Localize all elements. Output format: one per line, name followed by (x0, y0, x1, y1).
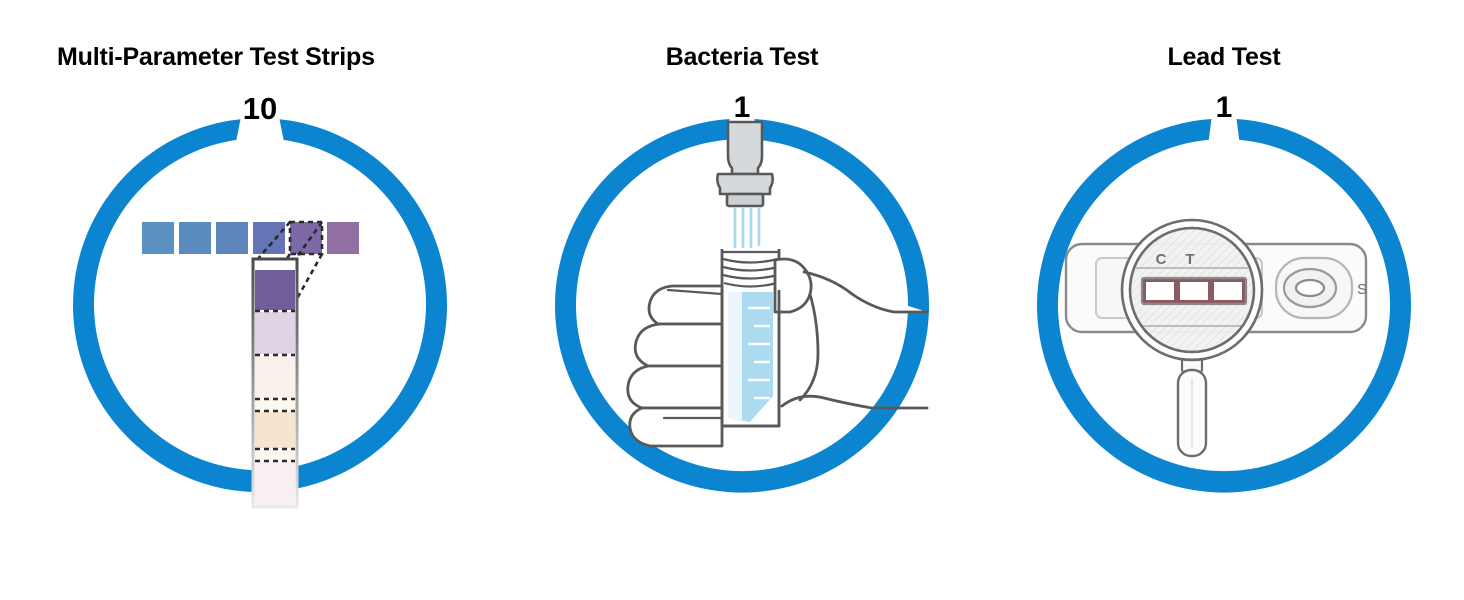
card-title: Bacteria Test (502, 44, 982, 72)
test-strip-illustration (50, 96, 470, 516)
card-lead-test[interactable]: Lead Test 1 (984, 0, 1464, 600)
test-strip (253, 258, 297, 508)
hand-vial-faucet-illustration (532, 96, 952, 516)
magnifier-icon: C T (1122, 220, 1262, 456)
water-stream (735, 207, 759, 248)
card-multi-parameter-test-strips[interactable]: Multi-Parameter Test Strips 10 (20, 0, 500, 600)
test-kit-overview: Multi-Parameter Test Strips 10 (0, 0, 1464, 600)
test-line-label: T (1185, 251, 1194, 268)
lead-test-cassette-illustration: S C T (1014, 96, 1434, 516)
faucet-icon (717, 122, 772, 206)
sample-well-label: S (1357, 281, 1367, 298)
card-bacteria-test[interactable]: Bacteria Test 1 (502, 0, 982, 600)
control-line-label: C (1156, 251, 1167, 268)
color-chart-swatches (142, 222, 359, 254)
sample-vial (722, 249, 779, 426)
ring-container: 1 S (1014, 96, 1434, 516)
card-title: Multi-Parameter Test Strips (20, 44, 375, 72)
card-title: Lead Test (984, 44, 1464, 72)
ring-container: 10 (50, 96, 470, 516)
ring-container: 1 (532, 96, 952, 516)
